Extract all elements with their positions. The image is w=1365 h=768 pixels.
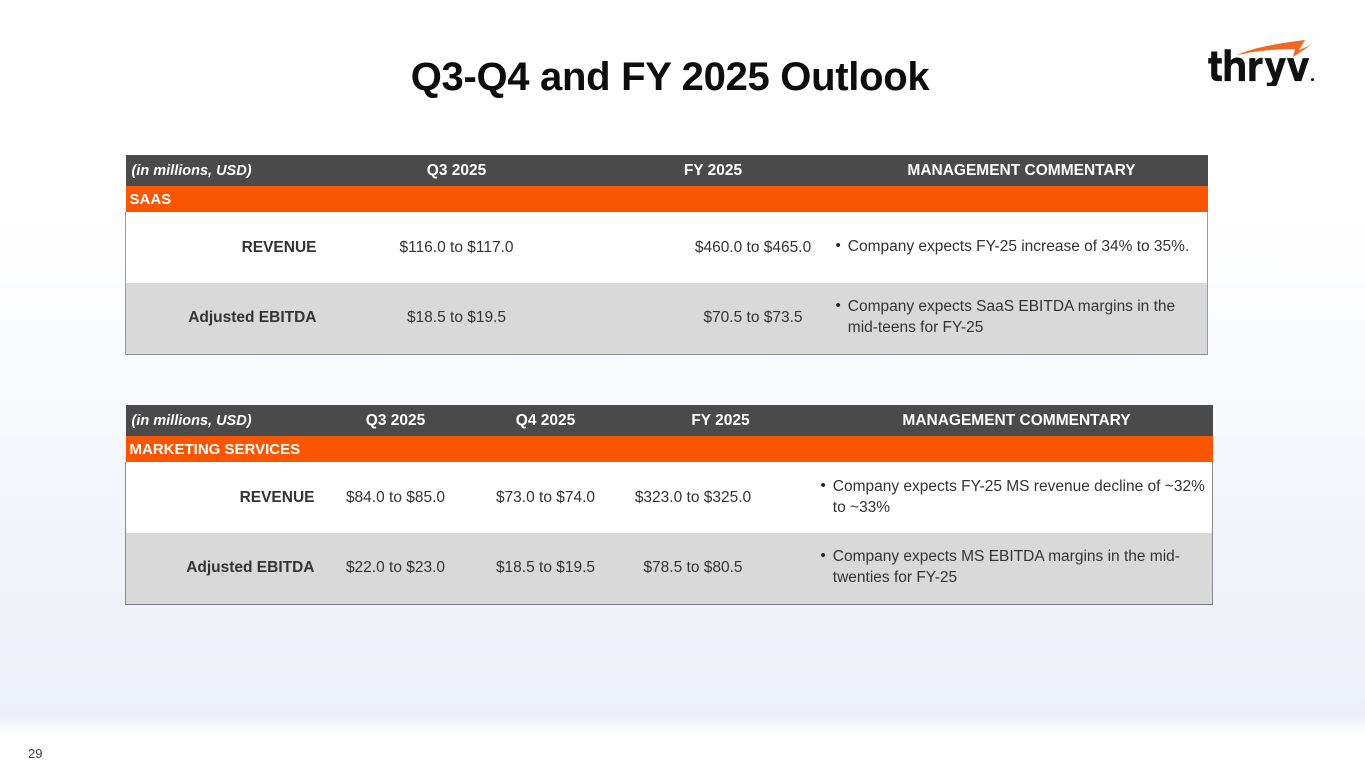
cell-ms-revenue-q3: $84.0 to $85.0	[321, 462, 471, 533]
marketing-services-outlook-table: (in millions, USD) Q3 2025 Q4 2025 FY 20…	[125, 405, 1213, 605]
column-header-management-commentary: MANAGEMENT COMMENTARY	[821, 405, 1213, 436]
table-row: Adjusted EBITDA $18.5 to $19.5 $70.5 to …	[126, 283, 1208, 354]
commentary-text: Company expects SaaS EBITDA margins in t…	[848, 297, 1201, 339]
cell-ms-ebitda-fy: $78.5 to $80.5	[621, 533, 766, 604]
column-header-q3-2025: Q3 2025	[323, 155, 591, 186]
column-header-fy-2025: FY 2025	[621, 405, 821, 436]
commentary-text: Company expects FY-25 MS revenue decline…	[833, 477, 1206, 519]
cell-saas-ebitda-commentary: • Company expects SaaS EBITDA margins in…	[836, 283, 1208, 354]
cell-saas-ebitda-fy: $70.5 to $73.5	[671, 283, 836, 354]
row-label-revenue: REVENUE	[126, 462, 321, 533]
category-row-marketing-services: MARKETING SERVICES	[126, 436, 1213, 462]
cell-spacer	[591, 212, 671, 283]
saas-outlook-table: (in millions, USD) Q3 2025 FY 2025 MANAG…	[125, 155, 1208, 355]
cell-ms-ebitda-commentary: • Company expects MS EBITDA margins in t…	[821, 533, 1213, 604]
bullet-icon: •	[821, 548, 826, 563]
cell-ms-revenue-commentary: • Company expects FY-25 MS revenue decli…	[821, 462, 1213, 533]
row-label-revenue: REVENUE	[126, 212, 323, 283]
cell-spacer	[766, 462, 821, 533]
category-row-saas: SAAS	[126, 186, 1208, 212]
cell-saas-ebitda-q3: $18.5 to $19.5	[323, 283, 591, 354]
column-header-fy-2025: FY 2025	[591, 155, 836, 186]
table-row: REVENUE $84.0 to $85.0 $73.0 to $74.0 $3…	[126, 462, 1213, 533]
cell-saas-revenue-q3: $116.0 to $117.0	[323, 212, 591, 283]
cell-saas-revenue-fy: $460.0 to $465.0	[671, 212, 836, 283]
cell-ms-ebitda-q4: $18.5 to $19.5	[471, 533, 621, 604]
commentary-text: Company expects FY-25 increase of 34% to…	[848, 237, 1201, 258]
row-label-adjusted-ebitda: Adjusted EBITDA	[126, 283, 323, 354]
row-label-adjusted-ebitda: Adjusted EBITDA	[126, 533, 321, 604]
bullet-icon: •	[836, 238, 841, 253]
column-header-q4-2025: Q4 2025	[471, 405, 621, 436]
cell-ms-ebitda-q3: $22.0 to $23.0	[321, 533, 471, 604]
page-number: 29	[28, 746, 42, 761]
commentary-text: Company expects MS EBITDA margins in the…	[833, 547, 1206, 589]
cell-saas-revenue-commentary: • Company expects FY-25 increase of 34% …	[836, 212, 1208, 283]
table-row: Adjusted EBITDA $22.0 to $23.0 $18.5 to …	[126, 533, 1213, 604]
bullet-icon: •	[821, 478, 826, 493]
category-label-marketing-services: MARKETING SERVICES	[126, 436, 1213, 462]
table-header-row: (in millions, USD) Q3 2025 FY 2025 MANAG…	[126, 155, 1208, 186]
cell-ms-revenue-fy: $323.0 to $325.0	[621, 462, 766, 533]
cell-spacer	[766, 533, 821, 604]
cell-spacer	[591, 283, 671, 354]
column-header-q3-2025: Q3 2025	[321, 405, 471, 436]
page-title: Q3-Q4 and FY 2025 Outlook	[0, 55, 1340, 100]
cell-ms-revenue-q4: $73.0 to $74.0	[471, 462, 621, 533]
column-header-units: (in millions, USD)	[126, 405, 321, 436]
bullet-icon: •	[836, 298, 841, 313]
column-header-management-commentary: MANAGEMENT COMMENTARY	[836, 155, 1208, 186]
table-row: REVENUE $116.0 to $117.0 $460.0 to $465.…	[126, 212, 1208, 283]
column-header-units: (in millions, USD)	[126, 155, 323, 186]
category-label-saas: SAAS	[126, 186, 1208, 212]
table-header-row: (in millions, USD) Q3 2025 Q4 2025 FY 20…	[126, 405, 1213, 436]
